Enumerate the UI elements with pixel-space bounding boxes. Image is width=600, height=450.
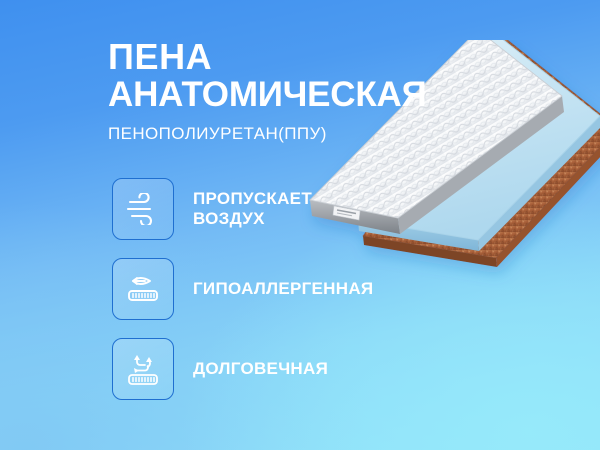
feature-label: ДОЛГОВЕЧНАЯ	[193, 359, 328, 379]
feature-icon-box	[112, 338, 174, 400]
anti-mite-mattress-icon	[123, 272, 163, 306]
title-line-2: АНАТОМИЧЕСКАЯ	[108, 76, 488, 114]
subtitle: ПЕНОПОЛИУРЕТАН(ППУ)	[108, 124, 488, 144]
feature-label: ПРОПУСКАЕТ ВОЗДУХ	[193, 189, 312, 229]
feature-list: ПРОПУСКАЕТ ВОЗДУХ ГИПОАЛЛЕРГЕННАЯ	[112, 178, 442, 418]
product-banner: ПЕНА АНАТОМИЧЕСКАЯ ПЕНОПОЛИУРЕТАН(ППУ) П…	[0, 0, 600, 450]
feature-item-hypoallergenic: ГИПОАЛЛЕРГЕННАЯ	[112, 258, 442, 320]
recycle-mattress-icon	[123, 351, 163, 387]
feature-item-durable: ДОЛГОВЕЧНАЯ	[112, 338, 442, 400]
feature-icon-box	[112, 258, 174, 320]
wind-icon	[124, 193, 162, 225]
feature-item-breathable: ПРОПУСКАЕТ ВОЗДУХ	[112, 178, 442, 240]
feature-icon-box	[112, 178, 174, 240]
title-line-1: ПЕНА	[108, 38, 488, 76]
headline-block: ПЕНА АНАТОМИЧЕСКАЯ ПЕНОПОЛИУРЕТАН(ППУ)	[108, 38, 488, 144]
feature-label: ГИПОАЛЛЕРГЕННАЯ	[193, 279, 373, 299]
